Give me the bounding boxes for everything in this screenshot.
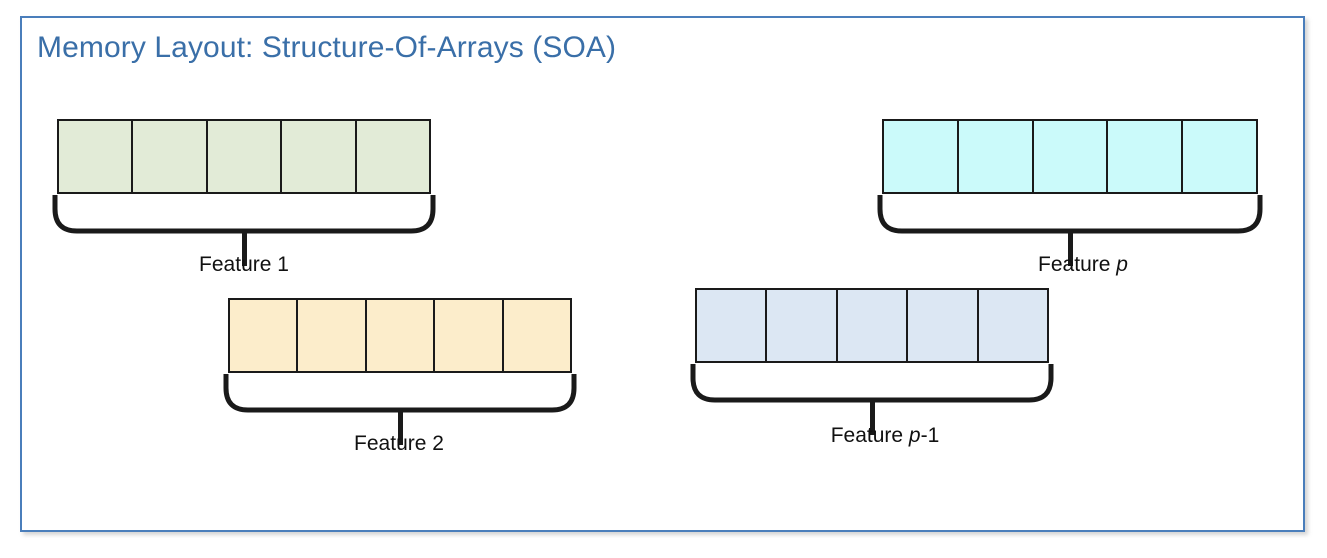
array-cell [838, 290, 908, 361]
array-cell [504, 300, 570, 371]
array-cell [884, 121, 959, 192]
bracket-feature-p-minus-1 [687, 361, 1057, 403]
array-cell [1034, 121, 1109, 192]
array-cell [230, 300, 298, 371]
array-cell [282, 121, 356, 192]
diagram-canvas: Memory Layout: Structure-Of-Arrays (SOA)… [0, 0, 1327, 558]
array-cell [1108, 121, 1183, 192]
label-text: Feature [831, 424, 909, 447]
label-variable: p [1116, 253, 1128, 276]
array-cell [959, 121, 1034, 192]
array-cell [1183, 121, 1256, 192]
array-label-feature-p: Feature p [1038, 253, 1128, 277]
label-text: Feature 2 [354, 432, 444, 455]
array-label-feature-p-minus-1: Feature p-1 [831, 424, 940, 448]
array-feature-p [882, 119, 1258, 194]
bracket-feature-2 [220, 371, 580, 413]
array-feature-2 [228, 298, 572, 373]
bracket-feature-p [874, 192, 1266, 234]
array-cell [208, 121, 282, 192]
array-cell [767, 290, 837, 361]
array-feature-1 [57, 119, 431, 194]
array-cell [697, 290, 767, 361]
array-cell [367, 300, 435, 371]
bracket-feature-1 [49, 192, 439, 234]
label-suffix: -1 [921, 424, 940, 447]
label-variable: p [909, 424, 921, 447]
array-cell [298, 300, 366, 371]
page-title: Memory Layout: Structure-Of-Arrays (SOA) [37, 28, 616, 68]
array-cell [979, 290, 1047, 361]
array-cell [908, 290, 978, 361]
label-text: Feature 1 [199, 253, 289, 276]
array-label-feature-1: Feature 1 [199, 253, 289, 277]
array-cell [133, 121, 207, 192]
array-label-feature-2: Feature 2 [354, 432, 444, 456]
label-text: Feature [1038, 253, 1116, 276]
array-cell [357, 121, 429, 192]
array-cell [59, 121, 133, 192]
array-feature-p-minus-1 [695, 288, 1049, 363]
array-cell [435, 300, 503, 371]
